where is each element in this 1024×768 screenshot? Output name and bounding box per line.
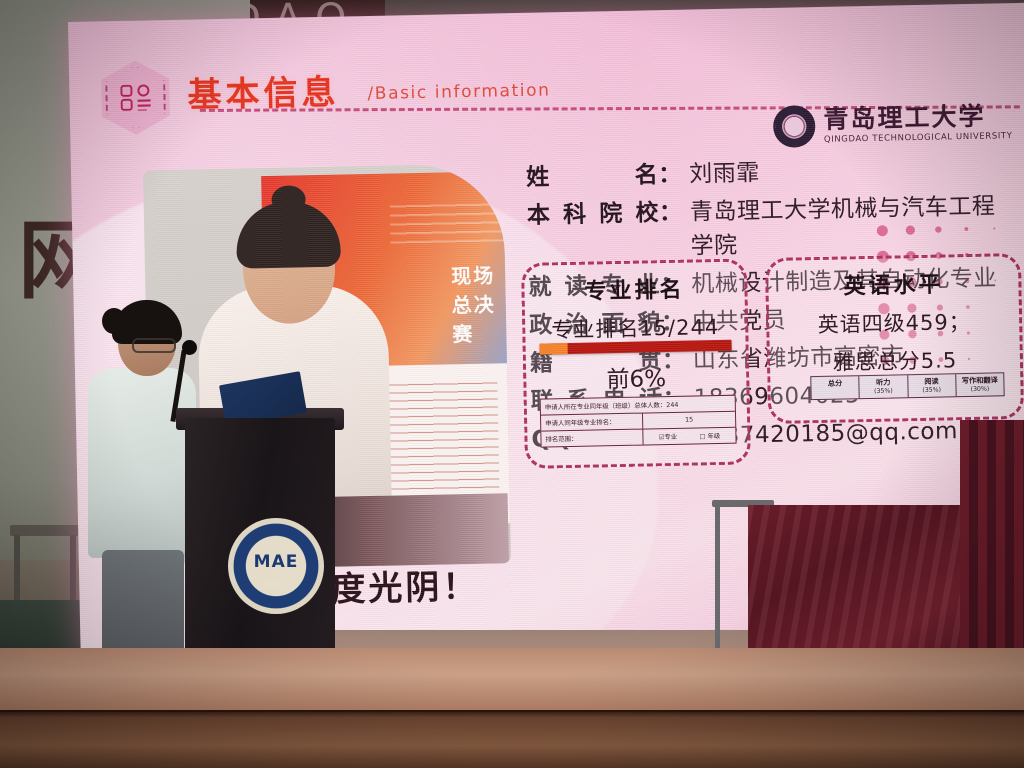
grid-list-icon [120, 84, 153, 111]
form-value: 15 [642, 412, 735, 429]
hexagon-badge [101, 60, 170, 135]
english-score-table: 总分 听力 (35%) 阅读 (35%) 写作和翻译 (30%) [810, 372, 1004, 399]
score-sub: (35%) [861, 387, 906, 396]
info-value: 刘雨霏 [689, 153, 760, 188]
university-seal-icon [773, 105, 816, 148]
ranking-progress-fill [540, 343, 568, 355]
card-ranking-title: 专业排名 [524, 270, 745, 306]
info-colon: ： [658, 155, 682, 189]
info-colon: ： [659, 193, 683, 227]
table-cell: 阅读 (35%) [908, 374, 957, 396]
info-label: 姓名 [526, 155, 659, 192]
info-row: 本科院校 ： 青岛理工大学机械与汽车工程学院 [527, 186, 998, 263]
score-sub: (35%) [909, 386, 954, 395]
university-names: 青岛理工大学 QINGDAO TECHNOLOGICAL UNIVERSITY [823, 103, 1012, 144]
form-checkbox-group: ☑专业 □ 年级 [642, 428, 735, 445]
table-row: 排名范围： ☑专业 □ 年级 [541, 428, 735, 447]
form-checkbox-grade: □ 年级 [699, 431, 720, 440]
ranking-percent-label: 前6% [526, 357, 747, 395]
form-label: 排名范围： [541, 430, 642, 447]
table-cell: 听力 (35%) [860, 375, 909, 397]
card-english-level: 英语水平 英语四级459； 雅思总分5.5 总分 听力 (35%) 阅读 (35… [765, 253, 1024, 424]
chair-leg [715, 507, 720, 657]
poster-title: 现场总决赛 [451, 259, 511, 347]
speaker-bun [102, 308, 126, 334]
microphone-head [182, 340, 197, 355]
speaker-glasses [132, 338, 176, 353]
poster-subtext-lines [390, 200, 511, 244]
score-sub [813, 388, 858, 389]
university-name-en: QINGDAO TECHNOLOGICAL UNIVERSITY [824, 132, 1013, 145]
ranking-form-table: 申请人所在专业同年级（班级）总体人数：244 申请人同年级专业排名： 15 排名… [540, 395, 737, 448]
university-name-cn: 青岛理工大学 [823, 103, 1012, 133]
photo-scene: QINGDAO TECHNOLOGY 网 [0, 0, 1024, 768]
score-sub: (30%) [957, 385, 1002, 394]
podium-emblem-text: MAE [228, 552, 324, 572]
table-cell: 写作和翻译 (30%) [956, 373, 1004, 395]
table-cell: 总分 [811, 376, 860, 398]
speaker-body [88, 368, 196, 558]
stage-front-panel [0, 712, 1024, 768]
score-head: 总分 [828, 379, 843, 388]
card-english-line1: 英语四级459； [769, 305, 1020, 340]
form-label: 申请人同年级专业排名： [541, 414, 642, 431]
card-english-title: 英语水平 [768, 265, 1019, 302]
form-checkbox-major: ☑专业 [659, 432, 678, 441]
score-head: 听力 [876, 378, 891, 387]
score-head: 阅读 [924, 377, 939, 386]
slide-title-en: /Basic information [367, 80, 550, 104]
score-head: 写作和翻译 [962, 375, 998, 385]
info-label: 本科院校 [527, 193, 660, 230]
podium-emblem-year: 1953 [228, 580, 324, 589]
university-lockup: 青岛理工大学 QINGDAO TECHNOLOGICAL UNIVERSITY [773, 101, 1012, 148]
info-value: 青岛理工大学机械与汽车工程学院 [690, 186, 998, 260]
info-row: 姓名 ： 刘雨霏 [526, 148, 997, 191]
card-major-ranking: 专业排名 专业排名15/244 前6% 申请人所在专业同年级（班级）总体人数：2… [521, 258, 751, 468]
